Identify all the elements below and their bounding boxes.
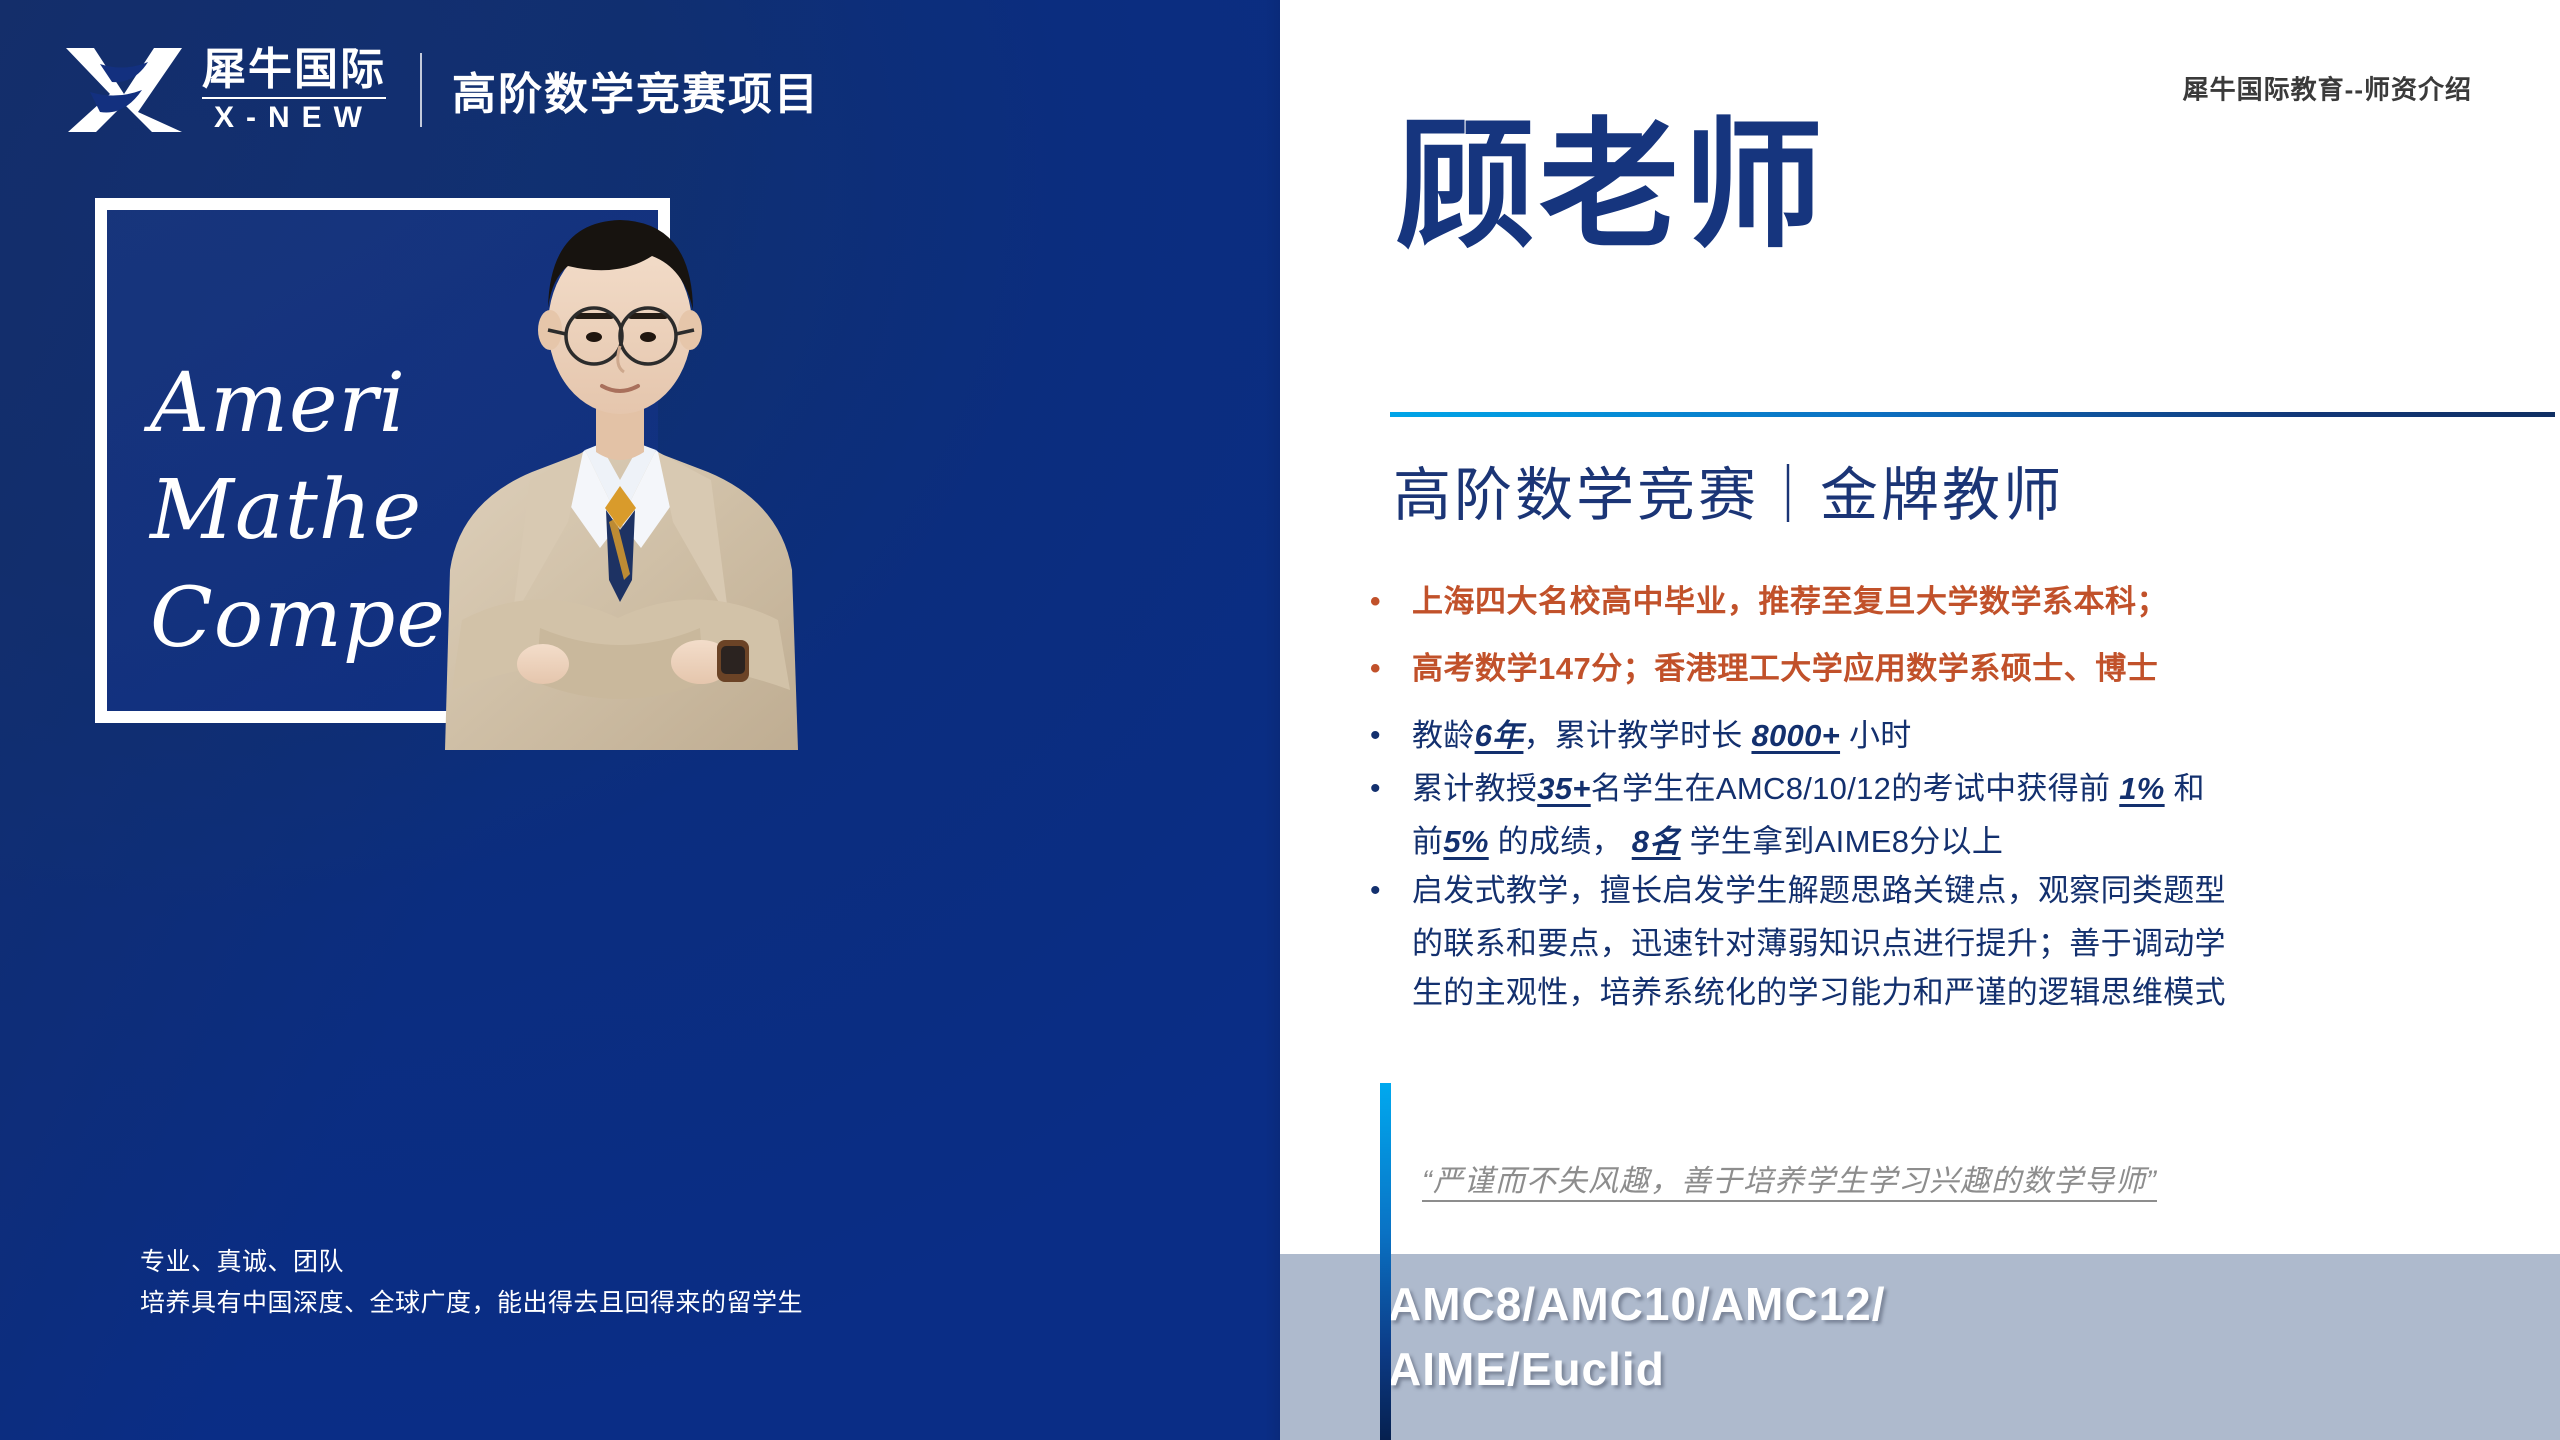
logo-divider (420, 53, 422, 127)
highlight-value: 8名 (1632, 824, 1681, 859)
bullet-marker-icon: • (1370, 645, 1412, 692)
brand-name-cn: 犀牛国际 (202, 47, 386, 93)
credential-text: 高考数学147分；香港理工大学应用数学系硕士、博士 (1412, 645, 2560, 694)
credential-text: 累计教授35+名学生在AMC8/10/12的考试中获得前 1% 和 (1412, 765, 2560, 814)
plain-text: 前 (1412, 824, 1443, 859)
plain-text: 和 (2165, 771, 2205, 806)
plain-text: ，累计教学时长 (1523, 718, 1751, 753)
bullet-marker-icon: • (1370, 578, 1412, 625)
title-underline-rule (1390, 412, 2555, 417)
credential-list: •上海四大名校高中毕业，推荐至复旦大学数学系本科；•高考数学147分；香港理工大… (1370, 578, 2560, 1018)
plain-text: 学生拿到AIME8分以上 (1681, 824, 2004, 859)
bullet-marker-icon: • (1370, 765, 1412, 812)
plain-text: 名学生在AMC8/10/12的考试中获得前 (1591, 771, 2120, 806)
brand-rule (202, 97, 386, 99)
brand-logo[interactable]: 犀牛国际 X-NEW 高阶数学竞赛项目 (60, 42, 820, 138)
credential-text: 上海四大名校高中毕业，推荐至复旦大学数学系本科； (1412, 578, 2560, 627)
highlight-value: 6年 (1475, 718, 1524, 753)
course-band-line-2: AIME/Euclid (1388, 1337, 2288, 1402)
bullet-marker-icon: • (1370, 712, 1412, 759)
x-new-rhino-logo-icon (60, 42, 188, 138)
bullet-marker-icon: • (1370, 867, 1412, 914)
brand-wordmark: 犀牛国际 X-NEW (202, 47, 386, 134)
panel-edge-shade (1265, 0, 1280, 1440)
plain-text: 启发式教学，擅长启发学生解题思路关键点，观察同类题型 (1412, 873, 2226, 908)
course-band-text: AMC8/AMC10/AMC12/ AIME/Euclid (1388, 1272, 2288, 1403)
right-content-panel: 犀牛国际教育--师资介绍 顾老师 高阶数学竞赛｜金牌教师 •上海四大名校高中毕业… (1280, 0, 2560, 1440)
credential-item: •教龄6年，累计教学时长 8000+ 小时 (1370, 712, 2560, 761)
credential-item: 生的主观性，培养系统化的学习能力和严谨的逻辑思维模式 (1370, 969, 2560, 1018)
highlight-value: 1% (2119, 771, 2164, 806)
page-kicker: 犀牛国际教育--师资介绍 (2183, 70, 2472, 107)
credential-text: 生的主观性，培养系统化的学习能力和严谨的逻辑思维模式 (1412, 969, 2560, 1018)
plain-text: 的成绩， (1489, 824, 1632, 859)
credential-text: 启发式教学，擅长启发学生解题思路关键点，观察同类题型 (1412, 867, 2560, 916)
credential-item: •累计教授35+名学生在AMC8/10/12的考试中获得前 1% 和 (1370, 765, 2560, 814)
credential-item: •启发式教学，擅长启发学生解题思路关键点，观察同类题型 (1370, 867, 2560, 916)
credential-item: 的联系和要点，迅速针对薄弱知识点进行提升；善于调动学 (1370, 920, 2560, 969)
tagline-line-2: 培养具有中国深度、全球广度，能出得去且回得来的留学生 (140, 1283, 803, 1324)
left-blue-panel: Ameri Mathe Compe (0, 0, 1280, 1440)
credential-text: 教龄6年，累计教学时长 8000+ 小时 (1412, 712, 2560, 761)
credential-item: 前5% 的成绩， 8名 学生拿到AIME8分以上 (1370, 818, 2560, 867)
slide-root: Ameri Mathe Compe (0, 0, 2560, 1440)
credential-text: 的联系和要点，迅速针对薄弱知识点进行提升；善于调动学 (1412, 920, 2560, 969)
footer-tagline: 专业、真诚、团队 培养具有中国深度、全球广度，能出得去且回得来的留学生 (140, 1242, 803, 1323)
frame-left-edge (95, 198, 107, 723)
plain-text: 累计教授 (1412, 771, 1537, 806)
teacher-photo (300, 150, 940, 750)
accent-vertical-rule (1380, 1083, 1391, 1440)
program-title: 高阶数学竞赛项目 (452, 58, 820, 122)
plain-text: 教龄 (1412, 718, 1475, 753)
page-title: 顾老师 (1395, 108, 1827, 265)
credential-item: •上海四大名校高中毕业，推荐至复旦大学数学系本科； (1370, 578, 2560, 627)
plain-text: 的联系和要点，迅速针对薄弱知识点进行提升；善于调动学 (1412, 926, 2226, 961)
teacher-quote: “严谨而不失风趣，善于培养学生学习兴趣的数学导师” (1422, 1156, 2157, 1200)
credential-item: •高考数学147分；香港理工大学应用数学系硕士、博士 (1370, 645, 2560, 694)
brand-name-en: X-NEW (202, 103, 386, 133)
tagline-line-1: 专业、真诚、团队 (140, 1242, 803, 1283)
credential-text: 前5% 的成绩， 8名 学生拿到AIME8分以上 (1412, 818, 2560, 867)
plain-text: 生的主观性，培养系统化的学习能力和严谨的逻辑思维模式 (1412, 975, 2226, 1010)
highlight-value: 35+ (1537, 771, 1591, 806)
highlight-value: 8000+ (1751, 718, 1840, 753)
plain-text: 小时 (1840, 718, 1912, 753)
page-subtitle: 高阶数学竞赛｜金牌教师 (1393, 448, 2064, 532)
course-band-line-1: AMC8/AMC10/AMC12/ (1388, 1272, 2288, 1337)
highlight-value: 5% (1443, 824, 1488, 859)
